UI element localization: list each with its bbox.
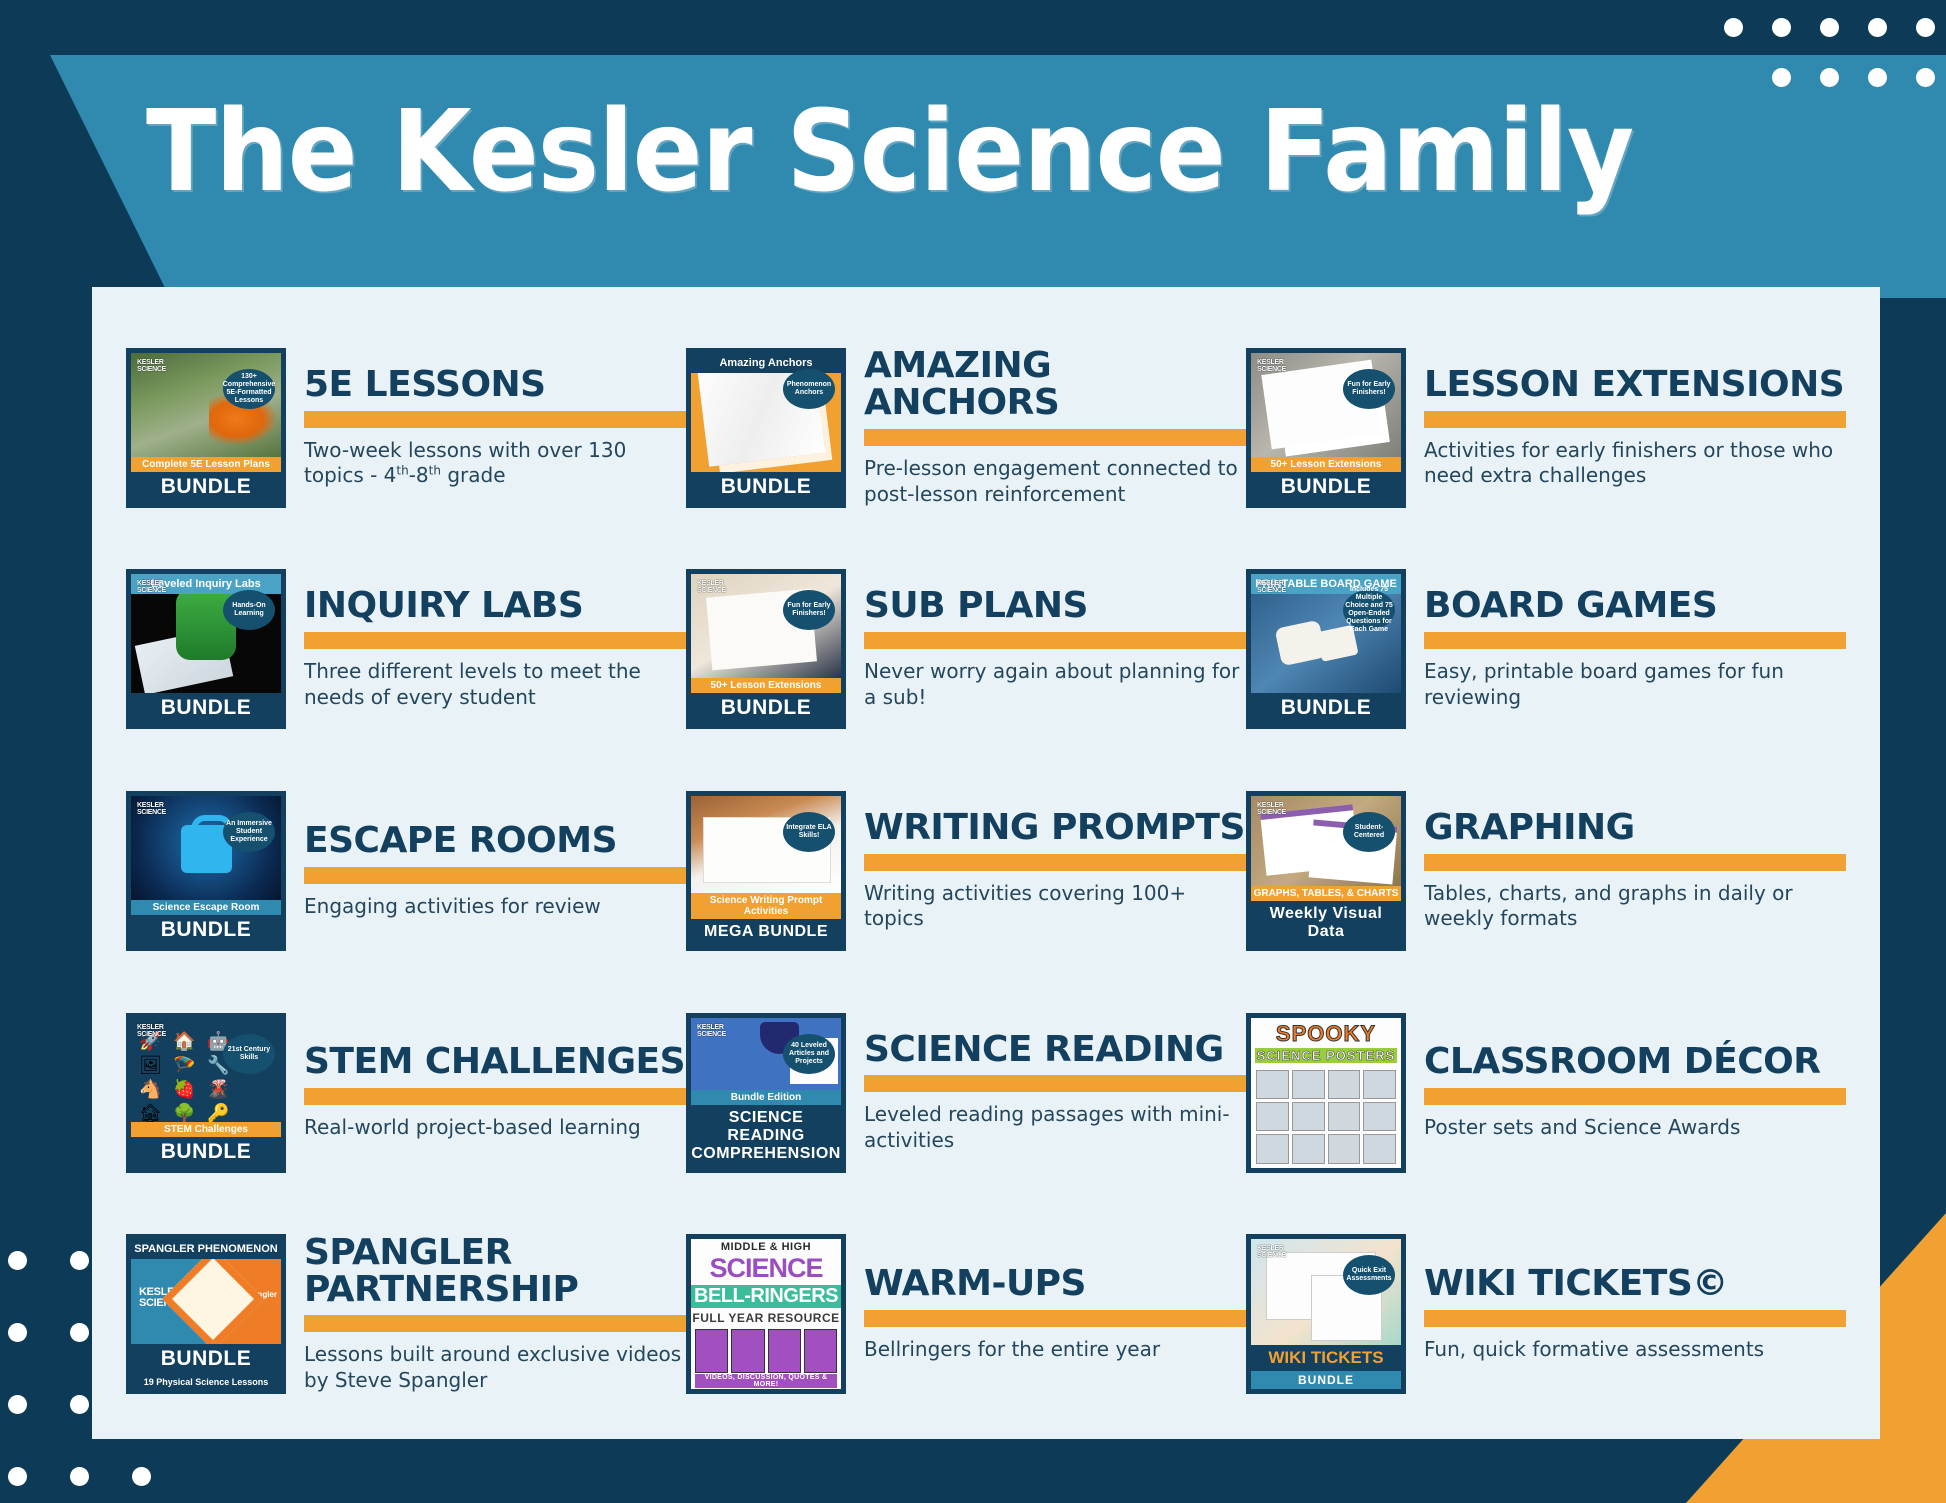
thumbnail-badge: 40 Leveled Articles and Projects <box>783 1034 835 1074</box>
poster-tile <box>1256 1134 1289 1163</box>
thumbnail-caption: BUNDLE <box>131 1137 281 1168</box>
decor-dot <box>70 1251 89 1270</box>
product-thumbnail[interactable]: MIDDLE & HIGHSCIENCEBELL-RINGERSFULL YEA… <box>686 1234 846 1394</box>
product-text: 5E LESSONSTwo-week lessons with over 130… <box>304 367 686 489</box>
cover-text-line3: BELL-RINGERS <box>691 1285 841 1308</box>
poster-tile <box>1292 1070 1325 1099</box>
product-text: SPANGLER PARTNERSHIPLessons built around… <box>304 1235 686 1394</box>
kesler-science-logo: KESLER SCIENCE <box>137 359 171 379</box>
thumbnail-artwork: MIDDLE & HIGHSCIENCEBELL-RINGERSFULL YEA… <box>691 1239 841 1389</box>
decor-dot <box>8 1323 27 1342</box>
product-thumbnail[interactable]: SPOOKYSCIENCE POSTERS <box>1246 1013 1406 1173</box>
orange-divider <box>864 429 1246 446</box>
thumbnail-badge: Quick Exit Assessments <box>1343 1255 1395 1295</box>
thumbnail-artwork: KESLER SCIENCEAn Immersive Student Exper… <box>131 796 281 900</box>
thumbnail-badge: An Immersive Student Experience <box>223 812 275 852</box>
product-thumbnail[interactable]: KESLER SCIENCEStudent-CenteredGRAPHS, TA… <box>1246 791 1406 951</box>
decor-dot <box>1772 18 1791 37</box>
thumbnail-caption: BUNDLE <box>131 1344 281 1375</box>
orange-divider <box>864 1075 1246 1092</box>
product-title: WARM-UPS <box>864 1266 1246 1303</box>
orange-divider <box>1424 1088 1846 1105</box>
cover-tile <box>695 1329 728 1373</box>
thumbnail-badge: Fun for Early Finishers! <box>1343 369 1395 409</box>
kesler-science-logo: KESLER SCIENCE <box>1257 359 1291 379</box>
kesler-science-logo: KESLER SCIENCE <box>137 802 171 822</box>
product-title: GRAPHING <box>1424 810 1846 847</box>
product-title: WRITING PROMPTS <box>864 810 1246 847</box>
orange-divider <box>304 867 686 884</box>
thumbnail-strip: WIKI TICKETS <box>1251 1345 1401 1371</box>
thumbnail-badge: 21st Century Skills <box>223 1034 275 1074</box>
product-description: Never worry again about planning for a s… <box>864 659 1246 710</box>
decor-dot <box>1820 18 1839 37</box>
product-item[interactable]: KESLER SCIENCEFun for Early Finishers!50… <box>686 539 1246 761</box>
decor-dot <box>1868 68 1887 87</box>
product-item[interactable]: KESLER SCIENCEstevespanglerSPANGLER PHEN… <box>126 1203 686 1425</box>
thumbnail-badge: Fun for Early Finishers! <box>783 590 835 630</box>
thumbnail-strip: 50+ Lesson Extensions <box>1251 457 1401 472</box>
thumbnail-caption: BUNDLE <box>1251 472 1401 503</box>
stem-item-icon: 🐴 <box>139 1080 167 1098</box>
orange-divider <box>1424 411 1846 428</box>
product-item[interactable]: KESLER SCIENCELeveled Inquiry LabsHands-… <box>126 539 686 761</box>
page-title: The Kesler Science Family <box>146 96 1633 208</box>
thumbnail-strip: 50+ Lesson Extensions <box>691 678 841 693</box>
thumbnail-top-label: SPANGLER PHENOMENON <box>131 1239 281 1259</box>
product-thumbnail[interactable]: KESLER SCIENCEAn Immersive Student Exper… <box>126 791 286 951</box>
thumbnail-artwork: KESLER SCIENCEPRINTABLE BOARD GAMEInclud… <box>1251 574 1401 693</box>
decor-dot <box>70 1467 89 1486</box>
thumbnail-strip: Complete 5E Lesson Plans <box>131 457 281 472</box>
product-description: Activities for early finishers or those … <box>1424 438 1846 489</box>
orange-divider <box>304 632 686 649</box>
product-title: INQUIRY LABS <box>304 588 686 625</box>
product-thumbnail[interactable]: Amazing AnchorsPhenomenon AnchorsBUNDLE <box>686 348 846 508</box>
thumbnail-strip: Science Escape Room <box>131 900 281 915</box>
orange-divider <box>1424 854 1846 871</box>
thumbnail-strip: Bundle Edition <box>691 1090 841 1105</box>
product-item[interactable]: 🚀🏠🤖🖼🪂🔧🐴🍓🌋🏚🌳🔑KESLER SCIENCE21st Century S… <box>126 982 686 1204</box>
thumbnail-artwork: 🚀🏠🤖🖼🪂🔧🐴🍓🌋🏚🌳🔑KESLER SCIENCE21st Century S… <box>131 1018 281 1122</box>
product-description: Two-week lessons with over 130 topics - … <box>304 438 686 489</box>
product-text: SCIENCE READINGLeveled reading passages … <box>864 1032 1246 1154</box>
product-item[interactable]: KESLER SCIENCE130+ Comprehensive 5E-Form… <box>126 317 686 539</box>
thumbnail-artwork: KESLER SCIENCE130+ Comprehensive 5E-Form… <box>131 353 281 457</box>
thumbnail-caption: SCIENCE READING COMPREHENSION <box>691 1105 841 1168</box>
cover-text-line2: SCIENCE <box>691 1255 841 1282</box>
product-item[interactable]: KESLER SCIENCEPRINTABLE BOARD GAMEInclud… <box>1246 539 1846 761</box>
decorative-dots-top-right <box>1724 18 1934 113</box>
cover-tile <box>731 1329 764 1373</box>
cover-footer-text: VIDEOS, DISCUSSION, QUOTES & MORE! <box>695 1374 837 1388</box>
thumbnail-artwork: KESLER SCIENCEQuick Exit Assessments <box>1251 1239 1401 1345</box>
product-description: Writing activities covering 100+ topics <box>864 881 1246 932</box>
stem-item-icon: 🏚 <box>139 1104 167 1122</box>
product-item[interactable]: KESLER SCIENCEStudent-CenteredGRAPHS, TA… <box>1246 760 1846 982</box>
decor-dot <box>132 1467 151 1486</box>
product-description: Three different levels to meet the needs… <box>304 659 686 710</box>
stem-item-icon: 🪂 <box>173 1056 201 1074</box>
stem-item-icon: 🌳 <box>173 1104 201 1122</box>
product-title: 5E LESSONS <box>304 367 686 404</box>
product-item[interactable]: KESLER SCIENCEQuick Exit AssessmentsWIKI… <box>1246 1203 1846 1425</box>
product-thumbnail[interactable]: KESLER SCIENCELeveled Inquiry LabsHands-… <box>126 569 286 729</box>
product-description: Bellringers for the entire year <box>864 1337 1246 1363</box>
kesler-science-logo: KESLER SCIENCE <box>137 580 171 600</box>
product-description: Lessons built around exclusive videos by… <box>304 1342 686 1393</box>
thumbnail-caption: BUNDLE <box>1251 693 1401 724</box>
thumbnail-strip: 19 Physical Science Lessons <box>131 1375 281 1389</box>
product-text: LESSON EXTENSIONSActivities for early fi… <box>1424 367 1846 489</box>
cover-tile <box>768 1329 801 1373</box>
stem-item-icon: 🏠 <box>173 1032 201 1050</box>
product-text: GRAPHINGTables, charts, and graphs in da… <box>1424 810 1846 932</box>
product-thumbnail[interactable]: 🚀🏠🤖🖼🪂🔧🐴🍓🌋🏚🌳🔑KESLER SCIENCE21st Century S… <box>126 1013 286 1173</box>
product-thumbnail[interactable]: KESLER SCIENCE40 Leveled Articles and Pr… <box>686 1013 846 1173</box>
thumbnail-artwork: Amazing AnchorsPhenomenon Anchors <box>691 353 841 472</box>
product-description: Real-world project-based learning <box>304 1115 686 1141</box>
thumbnail-badge: 130+ Comprehensive 5E-Formatted Lessons <box>223 369 275 409</box>
thumbnail-strip: GRAPHS, TABLES, & CHARTS <box>1251 886 1401 901</box>
poster-tile <box>1256 1102 1289 1131</box>
product-text: SUB PLANSNever worry again about plannin… <box>864 588 1246 710</box>
product-item[interactable]: KESLER SCIENCE40 Leveled Articles and Pr… <box>686 982 1246 1204</box>
thumbnail-strip: STEM Challenges <box>131 1122 281 1137</box>
product-thumbnail[interactable]: KESLER SCIENCEQuick Exit AssessmentsWIKI… <box>1246 1234 1406 1394</box>
thumbnail-badge: Hands-On Learning <box>223 590 275 630</box>
thumbnail-caption: BUNDLE <box>691 693 841 724</box>
product-title: STEM CHALLENGES <box>304 1044 686 1081</box>
product-item[interactable]: SPOOKYSCIENCE POSTERSCLASSROOM DÉCORPost… <box>1246 982 1846 1204</box>
product-description: Fun, quick formative assessments <box>1424 1337 1846 1363</box>
thumbnail-caption: BUNDLE <box>131 915 281 946</box>
product-thumbnail[interactable]: KESLER SCIENCEFun for Early Finishers!50… <box>686 569 846 729</box>
decor-dot <box>1916 18 1935 37</box>
product-title: AMAZING ANCHORS <box>864 348 1246 421</box>
poster-tile <box>1363 1102 1396 1131</box>
kesler-science-logo: KESLER SCIENCE <box>697 580 731 600</box>
poster-tile <box>1292 1134 1325 1163</box>
cover-tile-grid <box>695 1329 837 1373</box>
kesler-science-logo: KESLER SCIENCE <box>1257 580 1291 600</box>
product-item[interactable]: MIDDLE & HIGHSCIENCEBELL-RINGERSFULL YEA… <box>686 1203 1246 1425</box>
product-description: Pre-lesson engagement connected to post-… <box>864 456 1246 507</box>
product-text: WARM-UPSBellringers for the entire year <box>864 1266 1246 1362</box>
poster-subtitle: SCIENCE POSTERS <box>1255 1048 1397 1063</box>
product-item[interactable]: KESLER SCIENCEAn Immersive Student Exper… <box>126 760 686 982</box>
thumbnail-artwork: Integrate ELA Skills! <box>691 796 841 893</box>
orange-divider <box>1424 632 1846 649</box>
kesler-science-logo: KESLER SCIENCE <box>697 1024 731 1044</box>
thumbnail-caption: Weekly Visual Data <box>1251 901 1401 946</box>
product-title: SCIENCE READING <box>864 1032 1246 1069</box>
poster-tile <box>1363 1070 1396 1099</box>
product-item[interactable]: KESLER SCIENCEFun for Early Finishers!50… <box>1246 317 1846 539</box>
content-card: KESLER SCIENCE130+ Comprehensive 5E-Form… <box>92 287 1880 1439</box>
product-item[interactable]: Amazing AnchorsPhenomenon AnchorsBUNDLEA… <box>686 317 1246 539</box>
product-description: Tables, charts, and graphs in daily or w… <box>1424 881 1846 932</box>
decor-dot <box>1724 18 1743 37</box>
cover-tile <box>804 1329 837 1373</box>
stem-item-icon: 🔑 <box>207 1104 235 1122</box>
cover-text-line1: MIDDLE & HIGH <box>691 1241 841 1253</box>
decor-dot <box>8 1251 27 1270</box>
product-thumbnail[interactable]: KESLER SCIENCEPRINTABLE BOARD GAMEInclud… <box>1246 569 1406 729</box>
thumbnail-strip: Science Writing Prompt Activities <box>691 893 841 919</box>
product-title: SPANGLER PARTNERSHIP <box>304 1235 686 1308</box>
product-title: BOARD GAMES <box>1424 588 1846 625</box>
stem-item-icon: 🌋 <box>207 1080 235 1098</box>
product-text: ESCAPE ROOMSEngaging activities for revi… <box>304 823 686 919</box>
orange-divider <box>304 1315 686 1332</box>
thumbnail-badge: Integrate ELA Skills! <box>783 812 835 852</box>
poster-tile <box>1256 1070 1289 1099</box>
stem-item-icon: 🖼 <box>139 1056 167 1074</box>
orange-divider <box>864 632 1246 649</box>
product-title: ESCAPE ROOMS <box>304 823 686 860</box>
thumbnail-caption: BUNDLE <box>131 472 281 503</box>
thumbnail-caption: BUNDLE <box>691 472 841 503</box>
decor-dot <box>70 1323 89 1342</box>
kesler-science-logo: KESLER SCIENCE <box>137 1024 171 1044</box>
thumbnail-caption: MEGA BUNDLE <box>691 919 841 946</box>
decor-dot <box>8 1395 27 1414</box>
product-title: LESSON EXTENSIONS <box>1424 367 1846 404</box>
product-item[interactable]: Integrate ELA Skills!Science Writing Pro… <box>686 760 1246 982</box>
thumbnail-badge: Student-Centered <box>1343 812 1395 852</box>
thumbnail-artwork: SPOOKYSCIENCE POSTERS <box>1251 1018 1401 1168</box>
product-title: SUB PLANS <box>864 588 1246 625</box>
thumbnail-artwork: KESLER SCIENCE40 Leveled Articles and Pr… <box>691 1018 841 1090</box>
product-text: INQUIRY LABSThree different levels to me… <box>304 588 686 710</box>
product-grid: KESLER SCIENCE130+ Comprehensive 5E-Form… <box>92 287 1880 1439</box>
thumbnail-artwork: KESLER SCIENCELeveled Inquiry LabsHands-… <box>131 574 281 693</box>
thumbnail-artwork: KESLER SCIENCEstevespanglerSPANGLER PHEN… <box>131 1239 281 1344</box>
stem-icon-grid: 🚀🏠🤖🖼🪂🔧🐴🍓🌋🏚🌳🔑 <box>139 1032 235 1122</box>
thumbnail-badge: Includes 75 Multiple Choice and 75 Open-… <box>1343 590 1395 630</box>
product-text: CLASSROOM DÉCORPoster sets and Science A… <box>1424 1044 1846 1140</box>
product-thumbnail[interactable]: KESLER SCIENCEstevespanglerSPANGLER PHEN… <box>126 1234 286 1394</box>
decor-dot <box>1820 68 1839 87</box>
product-thumbnail[interactable]: KESLER SCIENCE130+ Comprehensive 5E-Form… <box>126 348 286 508</box>
decor-dot <box>1772 68 1791 87</box>
poster-tile <box>1328 1070 1361 1099</box>
poster-title: SPOOKY <box>1255 1021 1397 1047</box>
decor-dot <box>1916 68 1935 87</box>
product-text: WRITING PROMPTSWriting activities coveri… <box>864 810 1246 932</box>
product-description: Engaging activities for review <box>304 894 686 920</box>
thumbnail-caption: BUNDLE <box>131 693 281 724</box>
product-thumbnail[interactable]: Integrate ELA Skills!Science Writing Pro… <box>686 791 846 951</box>
product-description: Leveled reading passages with mini-activ… <box>864 1102 1246 1153</box>
decor-dot <box>1868 18 1887 37</box>
decor-dot <box>70 1395 89 1414</box>
orange-divider <box>304 1088 686 1105</box>
product-text: STEM CHALLENGESReal-world project-based … <box>304 1044 686 1140</box>
orange-divider <box>304 411 686 428</box>
poster-tile <box>1328 1134 1361 1163</box>
product-description: Easy, printable board games for fun revi… <box>1424 659 1846 710</box>
kesler-science-logo: KESLER SCIENCE <box>1257 802 1291 822</box>
stem-item-icon: 🍓 <box>173 1080 201 1098</box>
orange-divider <box>864 854 1246 871</box>
product-thumbnail[interactable]: KESLER SCIENCEFun for Early Finishers!50… <box>1246 348 1406 508</box>
cover-text-line4: FULL YEAR RESOURCE <box>691 1311 841 1325</box>
kesler-science-logo: KESLER SCIENCE <box>1257 1245 1291 1265</box>
product-text: WIKI TICKETS©Fun, quick formative assess… <box>1424 1266 1846 1362</box>
poster-tile <box>1363 1134 1396 1163</box>
poster-tile <box>1328 1102 1361 1131</box>
thumbnail-artwork: KESLER SCIENCEFun for Early Finishers! <box>691 574 841 678</box>
product-description: Poster sets and Science Awards <box>1424 1115 1846 1141</box>
product-text: BOARD GAMESEasy, printable board games f… <box>1424 588 1846 710</box>
product-text: AMAZING ANCHORSPre-lesson engagement con… <box>864 348 1246 507</box>
thumbnail-strip-secondary: BUNDLE <box>1251 1371 1401 1389</box>
decor-dot <box>8 1467 27 1486</box>
orange-divider <box>1424 1310 1846 1327</box>
product-title: CLASSROOM DÉCOR <box>1424 1044 1846 1081</box>
orange-divider <box>864 1310 1246 1327</box>
thumbnail-artwork: KESLER SCIENCEFun for Early Finishers! <box>1251 353 1401 457</box>
poster-tile <box>1292 1102 1325 1131</box>
thumbnail-badge: Phenomenon Anchors <box>783 369 835 409</box>
product-title: WIKI TICKETS© <box>1424 1266 1846 1303</box>
poster-tile-grid <box>1256 1070 1396 1164</box>
thumbnail-artwork: KESLER SCIENCEStudent-Centered <box>1251 796 1401 886</box>
